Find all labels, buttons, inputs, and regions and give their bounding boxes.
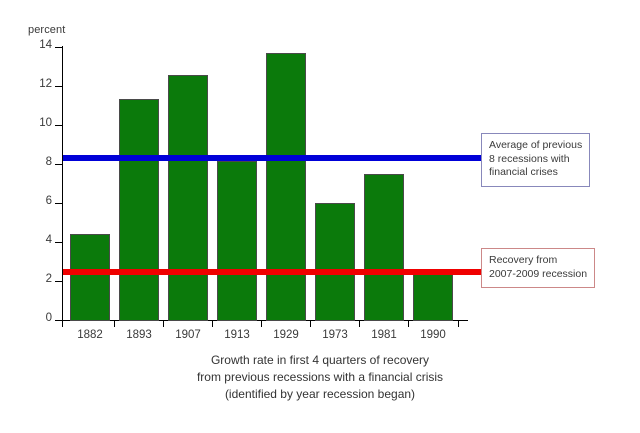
y-tick-2: 2 — [55, 281, 62, 282]
callout-average-recessions: Average of previous 8 recessions with fi… — [481, 133, 590, 187]
x-tick-label-1882: 1882 — [77, 329, 103, 341]
y-tick-4: 4 — [55, 242, 62, 243]
x-tick-4 — [261, 321, 262, 327]
x-tick-label-1990: 1990 — [420, 329, 446, 341]
x-tick-label-1893: 1893 — [126, 329, 152, 341]
caption-line-3: (identified by year recession began) — [0, 386, 640, 403]
caption-line-2: from previous recessions with a financia… — [0, 369, 640, 386]
y-tick-label-14: 14 — [39, 39, 52, 51]
y-tick-label-6: 6 — [46, 195, 52, 207]
x-tick-label-1907: 1907 — [175, 329, 201, 341]
y-axis-line — [62, 46, 63, 321]
x-tick-5 — [310, 321, 311, 327]
callout-recovery-line-1: Recovery from — [489, 254, 587, 268]
y-tick-label-8: 8 — [46, 156, 52, 168]
x-tick-7 — [408, 321, 409, 327]
y-tick-6: 6 — [55, 203, 62, 204]
x-tick-label-1929: 1929 — [273, 329, 299, 341]
bar-1990 — [413, 270, 453, 321]
chart-caption: Growth rate in first 4 quarters of recov… — [0, 352, 640, 403]
callout-average-line-2: 8 recessions with — [489, 153, 582, 167]
x-tick-8 — [458, 321, 459, 327]
y-tick-label-2: 2 — [46, 273, 52, 285]
bar-1981 — [364, 174, 404, 321]
y-tick-8: 8 — [55, 164, 62, 165]
bar-1913 — [217, 161, 257, 321]
y-tick-10: 10 — [55, 125, 62, 126]
bar-1973 — [315, 203, 355, 321]
y-axis-unit-label: percent — [28, 24, 65, 36]
x-tick-label-1973: 1973 — [322, 329, 348, 341]
callout-average-line-3: financial crises — [489, 166, 582, 180]
bar-1882 — [70, 234, 110, 321]
x-tick-1 — [114, 321, 115, 327]
y-tick-14: 14 — [55, 47, 62, 48]
y-tick-0: 0 — [55, 320, 62, 321]
reference-line-average — [63, 155, 485, 161]
x-tick-0 — [62, 321, 63, 327]
x-tick-label-1981: 1981 — [371, 329, 397, 341]
bar-1907 — [168, 75, 208, 321]
callout-average-line-1: Average of previous — [489, 139, 582, 153]
y-tick-label-4: 4 — [46, 234, 52, 246]
caption-line-1: Growth rate in first 4 quarters of recov… — [0, 352, 640, 369]
chart-figure: percent 0 2 4 6 8 10 12 14 — [0, 0, 640, 433]
y-tick-label-10: 10 — [39, 117, 52, 129]
y-tick-label-12: 12 — [39, 78, 52, 90]
y-tick-label-0: 0 — [46, 312, 52, 324]
x-tick-label-1913: 1913 — [224, 329, 250, 341]
bar-1929 — [266, 53, 306, 321]
x-tick-2 — [163, 321, 164, 327]
x-tick-3 — [212, 321, 213, 327]
callout-recovery-2007-2009: Recovery from 2007-2009 recession — [481, 248, 595, 288]
x-tick-6 — [359, 321, 360, 327]
y-tick-12: 12 — [55, 86, 62, 87]
plot-area: 0 2 4 6 8 10 12 14 — [62, 46, 468, 321]
callout-recovery-line-2: 2007-2009 recession — [489, 268, 587, 282]
reference-line-recovery — [63, 269, 485, 275]
bar-1893 — [119, 99, 159, 321]
